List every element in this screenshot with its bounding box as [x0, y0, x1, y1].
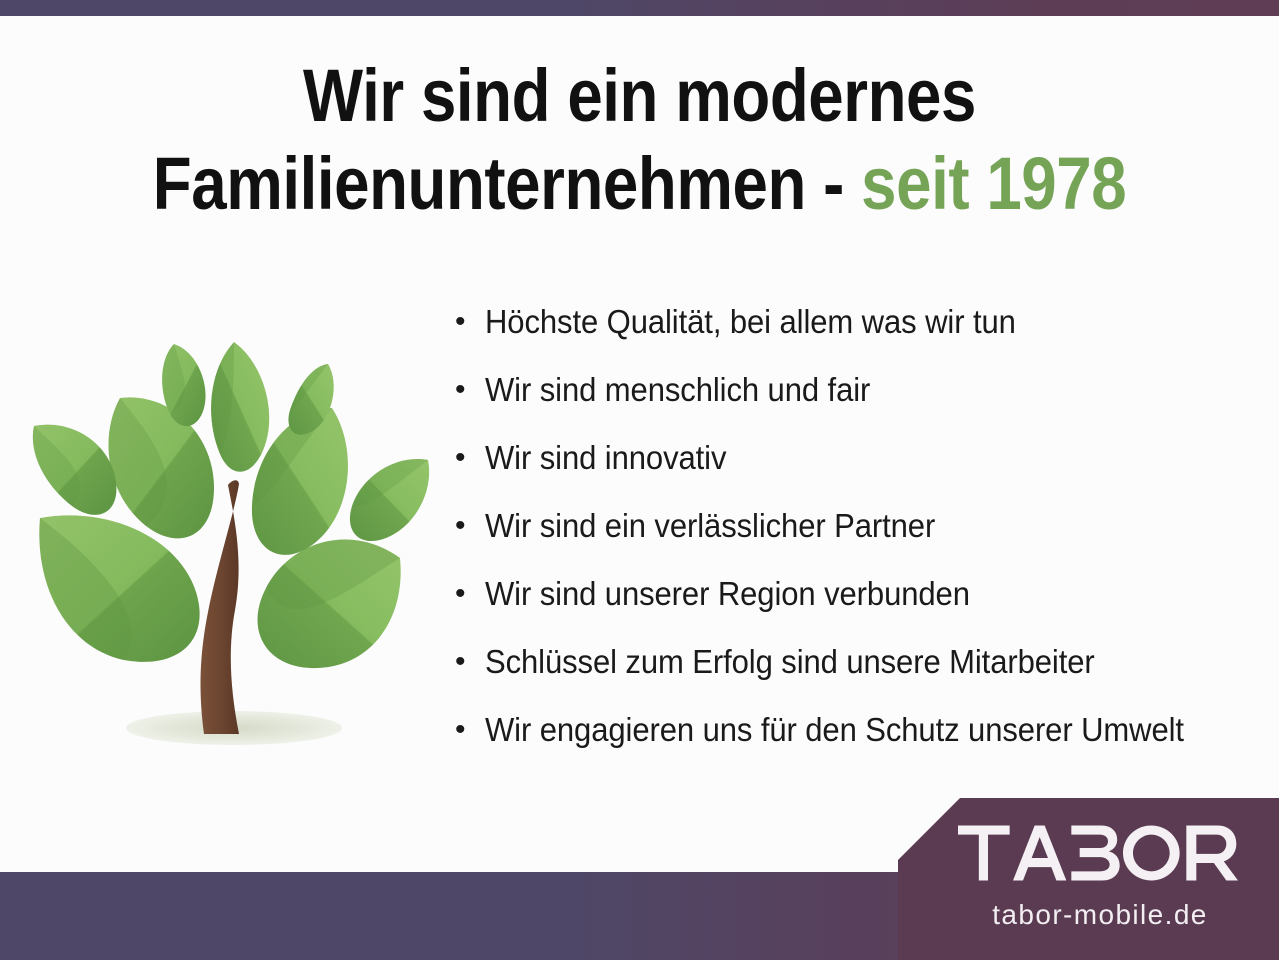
- logo-tagline: tabor-mobile.de: [958, 898, 1242, 932]
- bullet-marker-icon: •: [455, 307, 485, 337]
- title-line-2: Familienunternehmen - seit 1978: [90, 140, 1190, 228]
- tree-illustration: [28, 330, 440, 760]
- bullet-marker-icon: •: [455, 715, 485, 745]
- leaf-far-left: [33, 425, 117, 515]
- bullet-marker-icon: •: [455, 647, 485, 677]
- list-item-label: Wir sind innovativ: [485, 438, 1218, 478]
- list-item: • Schlüssel zum Erfolg sind unsere Mitar…: [455, 642, 1265, 710]
- bullet-marker-icon: •: [455, 375, 485, 405]
- bullet-marker-icon: •: [455, 443, 485, 473]
- page-title: Wir sind ein modernes Familienunternehme…: [90, 52, 1190, 228]
- bullet-marker-icon: •: [455, 511, 485, 541]
- list-item: • Wir sind innovativ: [455, 438, 1265, 506]
- title-line-2-main: Familienunternehmen -: [153, 142, 861, 225]
- brand-logo-block: tabor-mobile.de: [898, 798, 1279, 960]
- slide-root: Wir sind ein modernes Familienunternehme…: [0, 0, 1279, 960]
- bullet-marker-icon: •: [455, 579, 485, 609]
- leaf-lower-right: [258, 539, 401, 668]
- list-item-label: Wir sind unserer Region verbunden: [485, 574, 1218, 614]
- list-item: • Wir sind ein verlässlicher Partner: [455, 506, 1265, 574]
- list-item-label: Wir sind menschlich und fair: [485, 370, 1218, 410]
- list-item-label: Wir engagieren uns für den Schutz unsere…: [485, 710, 1218, 750]
- list-item-label: Wir sind ein verlässlicher Partner: [485, 506, 1218, 546]
- list-item: • Wir sind unserer Region verbunden: [455, 574, 1265, 642]
- list-item-label: Schlüssel zum Erfolg sind unsere Mitarbe…: [485, 642, 1218, 682]
- leaf-top-center: [211, 342, 269, 472]
- list-item: • Höchste Qualität, bei allem was wir tu…: [455, 302, 1265, 370]
- leaf-far-right: [350, 459, 429, 541]
- title-accent-seit-1978: seit 1978: [861, 142, 1126, 225]
- top-accent-bar: [0, 0, 1279, 16]
- list-item: • Wir engagieren uns für den Schutz unse…: [455, 710, 1265, 778]
- list-item-label: Höchste Qualität, bei allem was wir tun: [485, 302, 1218, 342]
- list-item: • Wir sind menschlich und fair: [455, 370, 1265, 438]
- tabor-wordmark-icon: [958, 820, 1238, 886]
- title-line-1: Wir sind ein modernes: [90, 52, 1190, 140]
- value-bullet-list: • Höchste Qualität, bei allem was wir tu…: [455, 302, 1265, 778]
